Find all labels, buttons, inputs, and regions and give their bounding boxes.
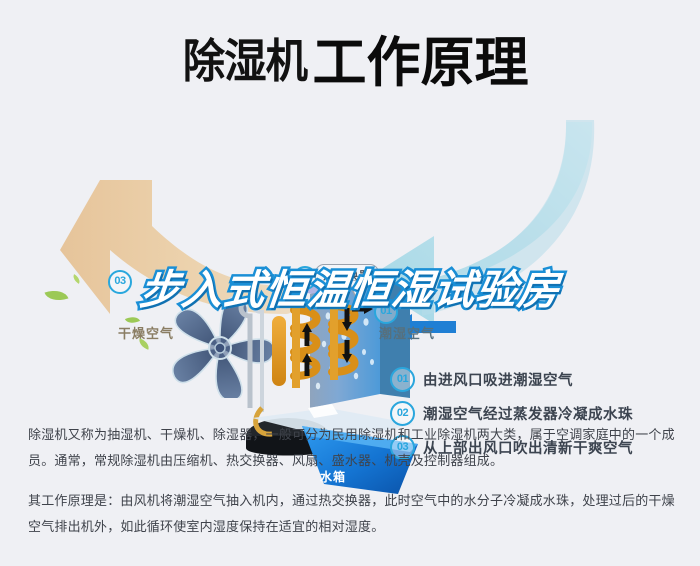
paragraph-2: 其工作原理是：由风机将潮湿空气抽入机内，通过热交换器，此时空气中的水分子冷凝成水… [28, 488, 676, 540]
page-title-part2: 工作原理 [313, 18, 529, 97]
dehumidifier-diagram: 03 02 01 热交换器 干燥空气 潮湿空气 水箱 01 由进风口吸进潮湿空气… [0, 118, 700, 400]
callout-pointer-icon [345, 280, 369, 302]
page-title: 除湿机工作原理 [0, 18, 700, 97]
description-block: 除湿机又称为抽湿机、干燥机、除湿器，一般可分为民用除湿机和工业除湿机两大类，属于… [28, 422, 676, 540]
page-root: 除湿机工作原理 [0, 0, 700, 566]
legend-text-02: 潮湿空气经过蒸发器冷凝成水珠 [423, 403, 633, 424]
page-title-part1: 除湿机 [182, 25, 306, 91]
badge-02: 02 [293, 266, 317, 290]
legend-badge-01: 01 [390, 367, 415, 392]
paragraph-1: 除湿机又称为抽湿机、干燥机、除湿器，一般可分为民用除湿机和工业除湿机两大类，属于… [28, 422, 676, 474]
legend-item-01: 01 由进风口吸进潮湿空气 [390, 362, 690, 396]
badge-03: 03 [108, 270, 132, 294]
legend-text-01: 由进风口吸进潮湿空气 [423, 369, 573, 390]
badge-01: 01 [374, 300, 398, 324]
humid-air-label: 潮湿空气 [379, 323, 435, 342]
dry-air-label: 干燥空气 [118, 323, 174, 342]
